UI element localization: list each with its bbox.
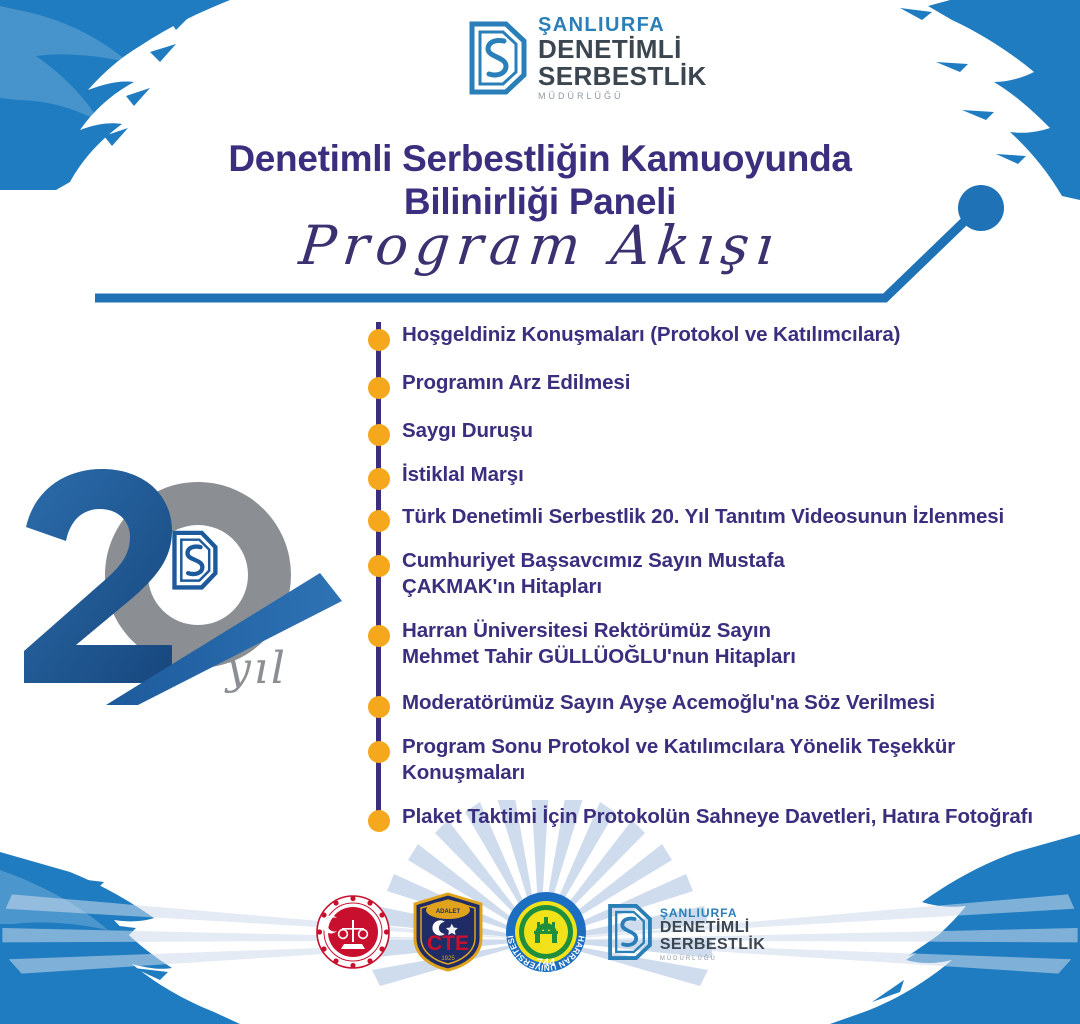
timeline-bullet-icon bbox=[368, 696, 390, 718]
harran-year: 744 bbox=[537, 957, 556, 969]
page-title: Denetimli Serbestliğin Kamuoyunda Bilini… bbox=[0, 137, 1080, 224]
logo-line-denetimli: DENETİMLİ bbox=[538, 36, 707, 62]
program-item-text: Hoşgeldiniz Konuşmaları (Protokol ve Kat… bbox=[402, 322, 900, 348]
footer-ds-logo: ŞANLIURFA DENETİMLİ SERBESTLİK MÜDÜRLÜĞÜ bbox=[607, 903, 765, 966]
header-logo: ŞANLIURFA DENETİMLİ SERBESTLİK MÜDÜRLÜĞÜ bbox=[468, 14, 688, 102]
program-item-text: Programın Arz Edilmesi bbox=[402, 370, 630, 396]
program-item-text: Cumhuriyet Başsavcımız Sayın Mustafa ÇAK… bbox=[402, 548, 785, 600]
ministry-of-justice-logo bbox=[315, 894, 391, 975]
timeline-bullet-icon bbox=[368, 377, 390, 399]
footer-logo-line-mudurlugu: MÜDÜRLÜĞÜ bbox=[660, 956, 765, 962]
logo-line-mudurlugu: MÜDÜRLÜĞÜ bbox=[538, 92, 707, 101]
timeline-bullet-icon bbox=[368, 625, 390, 647]
list-item[interactable]: İstiklal Marşı bbox=[360, 462, 1080, 504]
timeline-bullet-icon bbox=[368, 424, 390, 446]
title-line-1: Denetimli Serbestliğin Kamuoyunda bbox=[228, 138, 851, 179]
cte-logo: ADALET CTE 1925 bbox=[411, 892, 485, 977]
program-item-text: Program Sonu Protokol ve Katılımcılara Y… bbox=[402, 734, 955, 786]
script-heading: Program Akışı bbox=[0, 214, 1080, 277]
timeline-bullet-icon bbox=[368, 468, 390, 490]
program-item-text: Plaket Taktimi İçin Protokolün Sahneye D… bbox=[402, 804, 1033, 830]
ds-monogram-icon bbox=[468, 21, 528, 95]
list-item[interactable]: Cumhuriyet Başsavcımız Sayın Mustafa ÇAK… bbox=[360, 548, 1080, 618]
list-item[interactable]: Plaket Taktimi İçin Protokolün Sahneye D… bbox=[360, 804, 1080, 848]
footer-logo-line-denetimli: DENETİMLİ bbox=[660, 920, 765, 936]
timeline-bullet-icon bbox=[368, 810, 390, 832]
footer-logo-strip: ADALET CTE 1925 bbox=[0, 888, 1080, 980]
list-item[interactable]: Program Sonu Protokol ve Katılımcılara Y… bbox=[360, 734, 1080, 804]
program-timeline: Hoşgeldiniz Konuşmaları (Protokol ve Kat… bbox=[360, 322, 1080, 822]
timeline-bullet-icon bbox=[368, 329, 390, 351]
program-item-text: Türk Denetimli Serbestlik 20. Yıl Tanıtı… bbox=[402, 504, 1004, 530]
harran-university-logo: HARRAN ÜNİVERSİTESİ 744 bbox=[505, 891, 587, 978]
program-item-text: Moderatörümüz Sayın Ayşe Acemoğlu'na Söz… bbox=[402, 690, 935, 716]
timeline-bullet-icon bbox=[368, 555, 390, 577]
list-item[interactable]: Moderatörümüz Sayın Ayşe Acemoğlu'na Söz… bbox=[360, 690, 1080, 734]
program-list: Hoşgeldiniz Konuşmaları (Protokol ve Kat… bbox=[360, 322, 1080, 848]
list-item[interactable]: Hoşgeldiniz Konuşmaları (Protokol ve Kat… bbox=[360, 322, 1080, 370]
ds-monogram-icon bbox=[607, 903, 653, 966]
svg-text:ADALET: ADALET bbox=[436, 909, 461, 915]
program-item-text: Harran Üniversitesi Rektörümüz Sayın Meh… bbox=[402, 618, 796, 670]
logo-line-serbestlik: SERBESTLİK bbox=[538, 63, 707, 89]
emblem-digit-two bbox=[24, 469, 172, 683]
timeline-bullet-icon bbox=[368, 510, 390, 532]
list-item[interactable]: Programın Arz Edilmesi bbox=[360, 370, 1080, 418]
footer-logo-line-sanliurfa: ŞANLIURFA bbox=[660, 907, 765, 919]
emblem-script-yil: yıl bbox=[224, 643, 288, 694]
svg-text:1925: 1925 bbox=[441, 956, 455, 962]
program-item-text: Saygı Duruşu bbox=[402, 418, 533, 444]
twentieth-anniversary-emblem: yıl bbox=[20, 455, 350, 705]
timeline-bullet-icon bbox=[368, 741, 390, 763]
list-item[interactable]: Türk Denetimli Serbestlik 20. Yıl Tanıtı… bbox=[360, 504, 1080, 548]
list-item[interactable]: Saygı Duruşu bbox=[360, 418, 1080, 462]
logo-line-sanliurfa: ŞANLIURFA bbox=[538, 15, 707, 35]
footer-logo-line-serbestlik: SERBESTLİK bbox=[660, 937, 765, 953]
list-item[interactable]: Harran Üniversitesi Rektörümüz Sayın Meh… bbox=[360, 618, 1080, 690]
cte-text: CTE bbox=[427, 932, 469, 955]
poster-canvas: ŞANLIURFA DENETİMLİ SERBESTLİK MÜDÜRLÜĞÜ… bbox=[0, 0, 1080, 1024]
program-item-text: İstiklal Marşı bbox=[402, 462, 524, 488]
